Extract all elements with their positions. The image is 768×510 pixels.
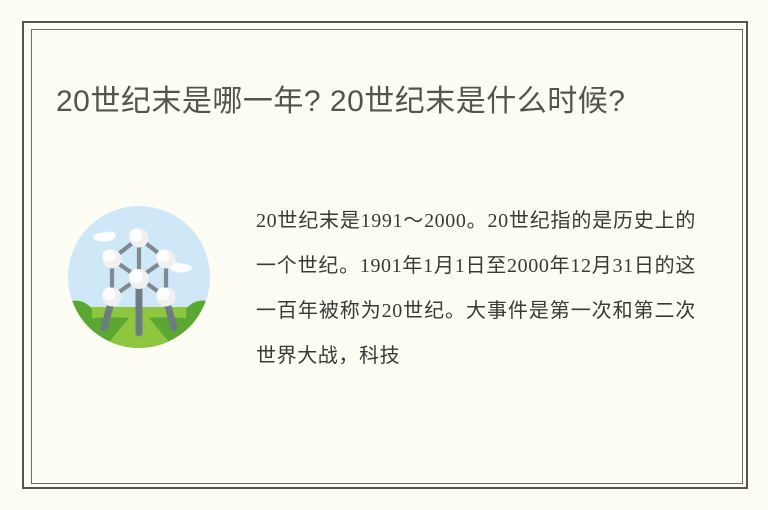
article-page: 20世纪末是哪一年? 20世纪末是什么时候?: [0, 0, 768, 510]
atomium-icon: [68, 206, 210, 348]
article-body-area: 20世纪末是1991～2000。20世纪指的是历史上的一个世纪。1901年1月1…: [56, 199, 716, 464]
page-title: 20世纪末是哪一年? 20世纪末是什么时候?: [56, 79, 716, 125]
atomium-illustration-thumbnail: [68, 206, 210, 348]
article-body-text: 20世纪末是1991～2000。20世纪指的是历史上的一个世纪。1901年1月1…: [256, 199, 696, 379]
article-content: 20世纪末是哪一年? 20世纪末是什么时候?: [31, 29, 743, 484]
